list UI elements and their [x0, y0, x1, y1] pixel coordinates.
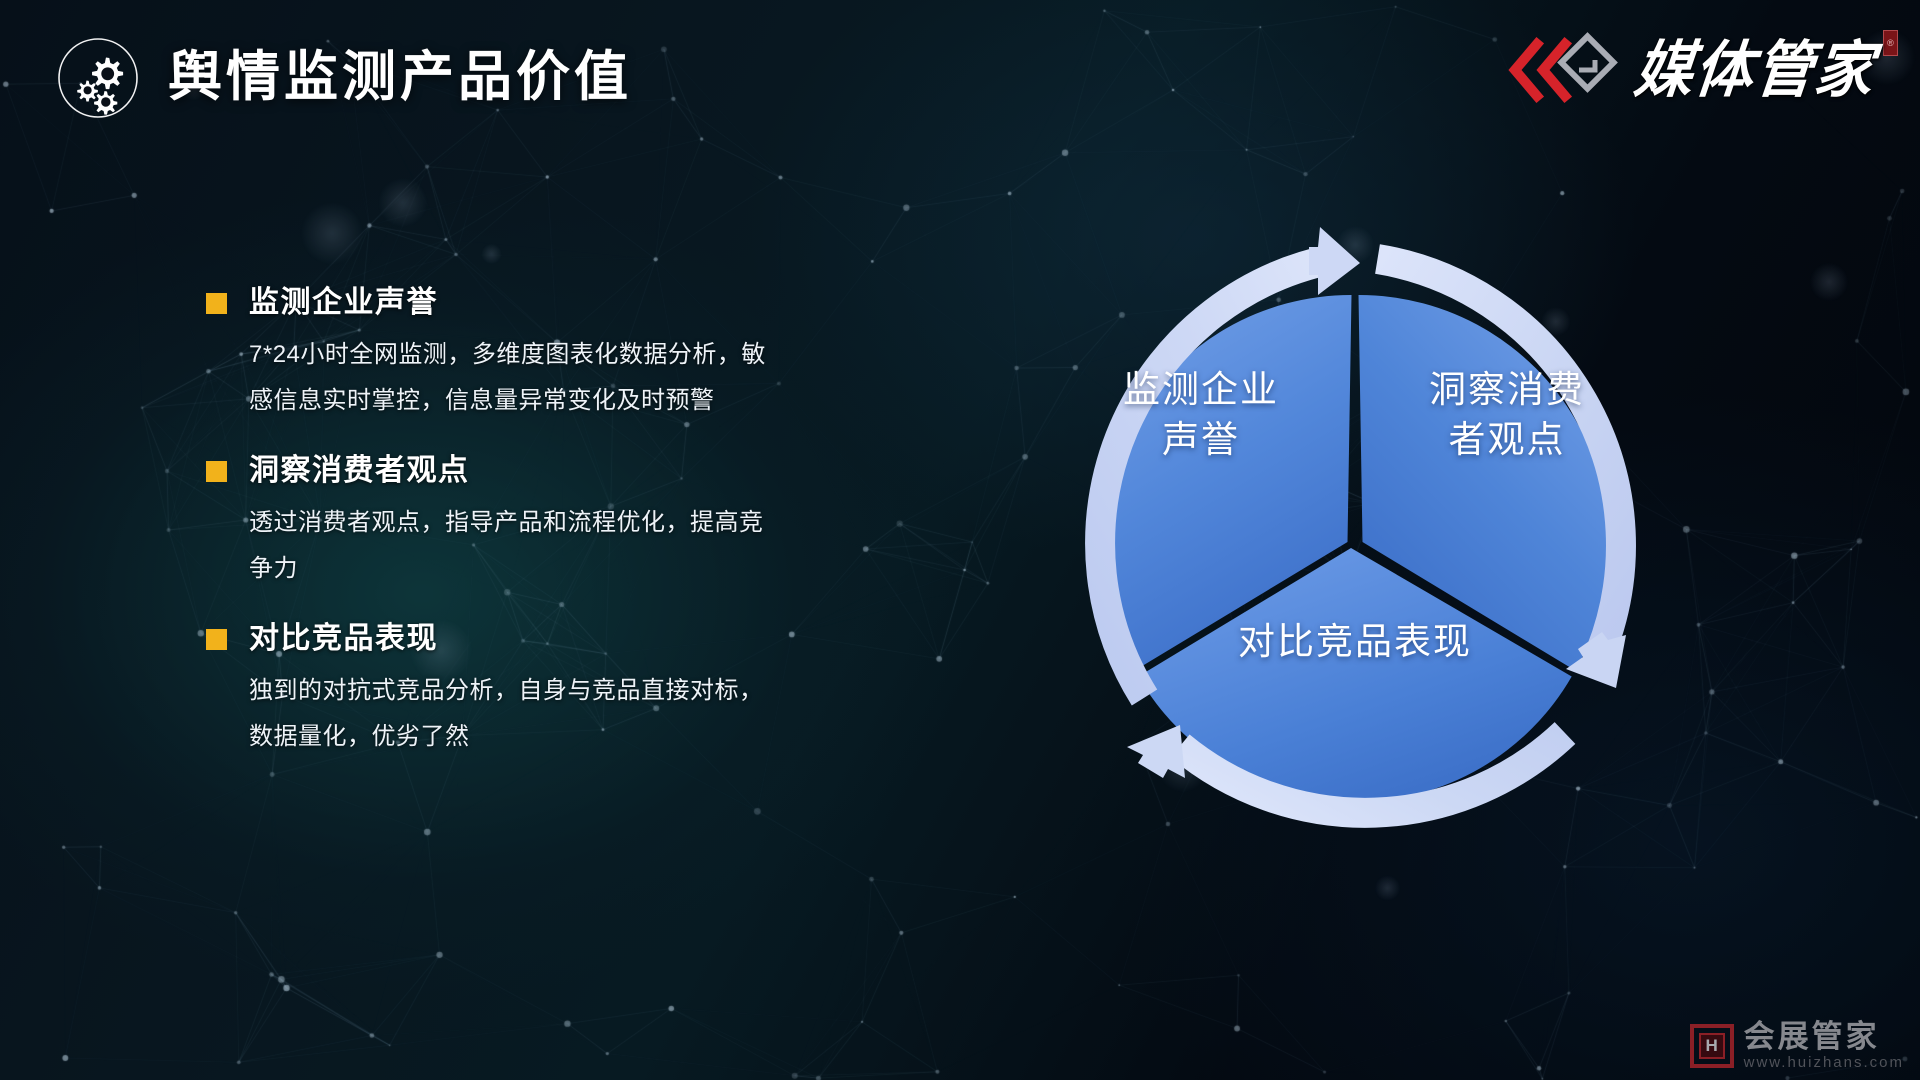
gears-icon [56, 36, 140, 120]
trademark-badge: ® [1883, 30, 1898, 56]
watermark-texts: 会展管家 www.huizhans.com [1744, 1021, 1904, 1070]
page-title: 舆情监测产品价值 [168, 42, 632, 112]
value-point-heading: 监测企业声誉 [206, 282, 766, 324]
value-point-title: 洞察消费者观点 [249, 450, 470, 492]
watermark: H 会展管家 www.huizhans.com [1690, 1021, 1904, 1070]
value-point-heading: 对比竞品表现 [206, 618, 766, 660]
square-bullet-icon [206, 461, 227, 482]
square-bullet-icon [206, 293, 227, 314]
watermark-name: 会展管家 [1744, 1021, 1904, 1052]
watermark-letter: H [1699, 1033, 1725, 1059]
value-point-body: 独到的对抗式竞品分析，自身与竞品直接对标，数据量化，优劣了然 [249, 668, 766, 760]
h-square-icon: H [1690, 1024, 1734, 1068]
value-point-item: 监测企业声誉 7*24小时全网监测，多维度图表化数据分析，敏感信息实时掌控，信息… [206, 282, 766, 424]
value-point-title: 对比竞品表现 [249, 618, 438, 660]
value-point-body: 透过消费者观点，指导产品和流程优化，提高竞争力 [249, 500, 766, 592]
value-point-heading: 洞察消费者观点 [206, 450, 766, 492]
value-point-item: 对比竞品表现 独到的对抗式竞品分析，自身与竞品直接对标，数据量化，优劣了然 [206, 618, 766, 760]
slide-header: 舆情监测产品价值 媒体管家 ® [0, 0, 1920, 150]
value-point-body: 7*24小时全网监测，多维度图表化数据分析，敏感信息实时掌控，信息量异常变化及时… [249, 332, 766, 424]
square-bullet-icon [206, 629, 227, 650]
value-point-item: 洞察消费者观点 透过消费者观点，指导产品和流程优化，提高竞争力 [206, 450, 766, 592]
watermark-url: www.huizhans.com [1744, 1055, 1904, 1070]
value-points-list: 监测企业声誉 7*24小时全网监测，多维度图表化数据分析，敏感信息实时掌控，信息… [206, 282, 766, 786]
brand-name: 媒体管家 [1631, 28, 1880, 113]
slide-canvas: 舆情监测产品价值 媒体管家 ® 监测企业声誉 [0, 0, 1920, 1080]
double-chevron-diamond-icon [1507, 30, 1627, 110]
cycle-diagram: 监测企业 声誉 洞察消费 者观点 对比竞品表现 [1015, 205, 1695, 885]
brand-logo: 媒体管家 ® [1507, 22, 1898, 118]
value-point-title: 监测企业声誉 [249, 282, 438, 324]
